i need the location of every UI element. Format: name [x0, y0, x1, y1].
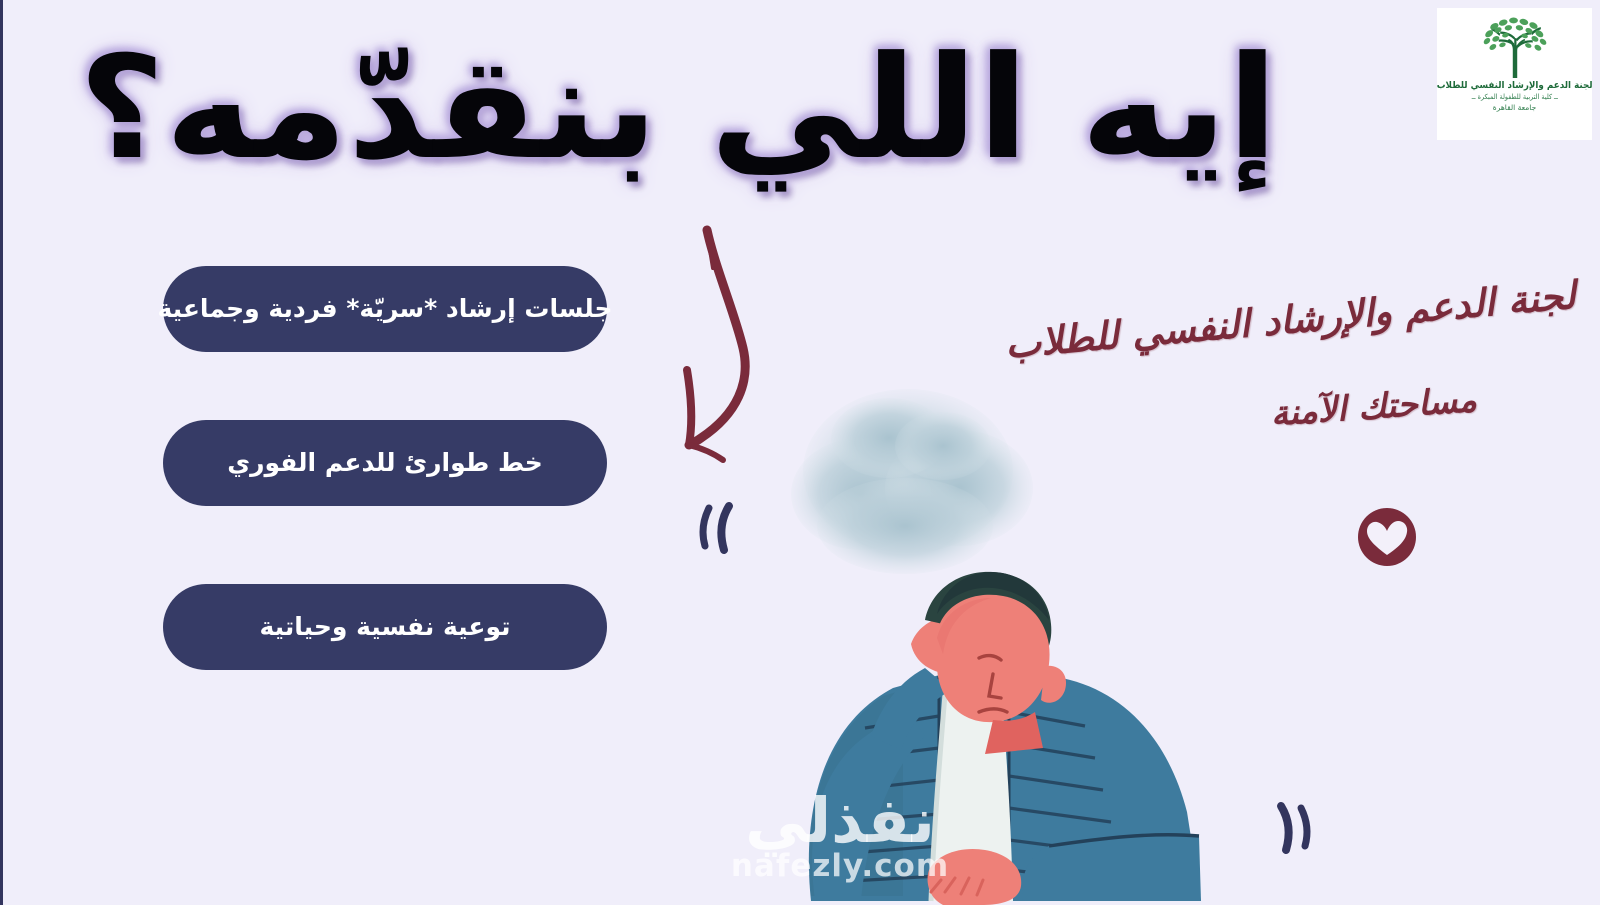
- page-title-text: إيه اللي بنقدّمه؟: [78, 38, 1278, 180]
- page-title: إيه اللي بنقدّمه؟: [113, 6, 1243, 211]
- stressed-man-illustration: [693, 376, 1273, 905]
- service-pill-label: خط طوارئ للدعم الفوري: [227, 448, 543, 478]
- handwritten-committee-name: لجنة الدعم والإرشاد النفسي للطلاب: [1003, 272, 1577, 367]
- service-pill-label: توعية نفسية وحياتية: [260, 612, 511, 642]
- service-pill-awareness[interactable]: توعية نفسية وحياتية: [163, 584, 607, 670]
- logo-university-name: جامعة القاهرة: [1493, 103, 1536, 112]
- service-pill-emergency-line[interactable]: خط طوارئ للدعم الفوري: [163, 420, 607, 506]
- tree-icon: [1478, 16, 1552, 78]
- logo-faculty-name: ــ كلية التربية للطفولة المبكرة ــ: [1471, 93, 1557, 101]
- service-pill-counselling-sessions[interactable]: جلسات إرشاد *سريّة* فردية وجماعية: [163, 266, 607, 352]
- handwritten-safe-space: مساحتك الآمنة: [1269, 380, 1478, 434]
- storm-cloud: [791, 389, 1033, 574]
- organization-logo: لجنة الدعم والإرشاد النفسي للطلاب ــ كلي…: [1437, 8, 1592, 140]
- heart-icon: [1355, 505, 1419, 569]
- service-pill-label: جلسات إرشاد *سريّة* فردية وجماعية: [157, 294, 612, 324]
- slide-canvas: إيه اللي بنقدّمه؟: [0, 0, 1600, 905]
- logo-committee-name: لجنة الدعم والإرشاد النفسي للطلاب: [1437, 80, 1593, 91]
